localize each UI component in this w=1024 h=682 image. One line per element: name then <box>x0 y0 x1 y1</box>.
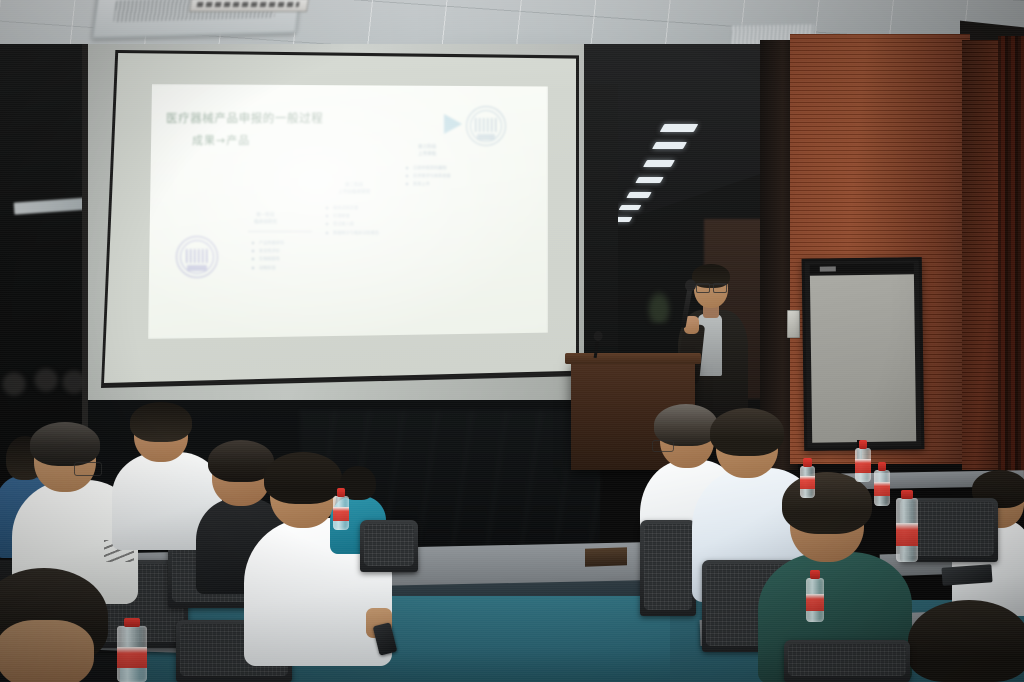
curtain <box>998 36 1024 476</box>
tablet-device[interactable] <box>941 564 992 585</box>
corridor-light-6 <box>619 205 642 210</box>
list-item: 注册申报资料编制 <box>406 164 451 172</box>
attendee-hair <box>908 600 1024 682</box>
chair-mesh-back <box>644 524 692 610</box>
slide-stage-3-label: 第三阶段 上市审批 <box>418 144 436 158</box>
mesh-office-chair[interactable] <box>360 520 418 572</box>
water-bottle[interactable] <box>117 618 147 682</box>
list-item: 受试者入组 <box>326 220 379 228</box>
slide-stage-1-underline <box>248 231 312 232</box>
slide-stage-3-line2: 上市审批 <box>418 152 436 157</box>
bottle-cap <box>901 490 913 499</box>
attendee-foreground-head <box>0 568 110 682</box>
slide-stage-1-line1: 第一阶段 <box>256 213 274 218</box>
eyeglasses-icon <box>652 440 674 452</box>
chair-mesh-back <box>364 524 414 566</box>
corridor-light-3 <box>643 160 675 167</box>
slide-subtitle: 成果→产品 <box>192 132 250 148</box>
whiteboard-top-rail <box>810 263 914 273</box>
slide-title: 医疗器械产品申报的一般过程 <box>166 110 323 126</box>
corridor-light-2 <box>652 142 687 149</box>
whiteboard-clip <box>820 266 836 271</box>
corridor-light-5 <box>626 192 651 198</box>
slide-stage-1-label: 第一阶段 临床前研究 <box>254 212 277 226</box>
conference-room-photo: 医疗器械产品申报的一般过程 成果→产品 第一阶段 临床前研究 产品性能研究 安全… <box>0 0 1024 682</box>
bottle-label <box>874 482 890 496</box>
list-item: 动物实验 <box>252 264 284 272</box>
bottle-label <box>800 476 815 489</box>
eyeglass-lens-left <box>696 283 710 293</box>
arrow-right-icon <box>444 114 462 134</box>
stage-step <box>585 547 627 566</box>
cfda-seal-icon <box>176 236 218 278</box>
attendee-hair <box>710 408 784 456</box>
light-switch-plate[interactable] <box>787 310 800 338</box>
attendee-hair <box>130 402 192 442</box>
eyeglass-lens-right <box>713 283 727 293</box>
chair-mesh-back <box>788 644 906 676</box>
slide-bullets-stage-2: 临床试验方案 伦理审查 受试者入组 数据统计与临床试验报告 <box>326 204 379 237</box>
seal-emblem-bars <box>475 118 496 132</box>
seal-plaque <box>187 265 206 271</box>
list-item: 安全性评价 <box>252 247 284 255</box>
slide-stage-3-line1: 第三阶段 <box>418 145 436 150</box>
corridor-light-4 <box>635 177 663 183</box>
bottle-cap <box>859 440 868 449</box>
bottle-label <box>896 523 918 546</box>
slide-stage-2-label: 第二阶段 上市前临床研究 <box>338 182 370 196</box>
water-bottle[interactable] <box>874 462 890 506</box>
corridor-light-1 <box>660 124 699 132</box>
bottle-label <box>333 507 349 520</box>
slide-stage-2-line2: 上市前临床研究 <box>338 190 370 195</box>
list-item: 临床试验方案 <box>326 204 379 212</box>
mesh-office-chair[interactable] <box>640 520 696 616</box>
list-item: 生物相容性 <box>252 255 284 263</box>
potted-plant <box>646 289 672 323</box>
list-item: 数据统计与临床试验报告 <box>326 229 379 237</box>
water-bottle[interactable] <box>333 488 349 530</box>
seal-plaque <box>477 134 495 140</box>
bottle-label <box>855 459 871 472</box>
list-item: 伦理审查 <box>326 212 379 220</box>
eyeglasses-icon <box>74 462 102 476</box>
whiteboard-surface <box>810 274 916 442</box>
slide-stage-2-line1: 第二阶段 <box>345 183 363 188</box>
ac-unit-label <box>189 0 309 12</box>
projected-slide: 医疗器械产品申报的一般过程 成果→产品 第一阶段 临床前研究 产品性能研究 安全… <box>148 84 548 339</box>
water-bottle[interactable] <box>800 458 815 498</box>
attendee-bottom-right-head <box>908 600 1024 682</box>
bottle-label <box>806 594 824 611</box>
attendee-head <box>0 620 94 682</box>
slide-bullets-stage-1: 产品性能研究 安全性评价 生物相容性 动物实验 <box>252 239 284 272</box>
attendee-hair <box>30 422 100 466</box>
slide-stage-1-line2: 临床前研究 <box>254 220 277 225</box>
mesh-office-chair[interactable] <box>784 640 910 682</box>
bottle-cap <box>878 462 887 471</box>
slide-bullets-stage-3: 注册申报资料编制 技术审评与体系核查 批准上市 <box>406 164 451 189</box>
bottle-cap <box>810 570 820 579</box>
list-item: 产品性能研究 <box>252 239 284 247</box>
water-bottle[interactable] <box>896 490 918 562</box>
list-item: 技术审评与体系核查 <box>406 172 451 180</box>
lectern-top-surface <box>565 353 701 364</box>
water-bottle[interactable] <box>806 570 824 622</box>
bottle-cap <box>337 488 346 497</box>
water-bottle[interactable] <box>855 440 871 482</box>
center-aisle-carpet <box>390 596 670 682</box>
seal-emblem-bars <box>186 249 208 263</box>
bottle-cap <box>124 618 141 627</box>
list-item: 批准上市 <box>406 180 451 188</box>
bottle-label <box>117 647 147 667</box>
bottle-cap <box>803 458 811 467</box>
fda-seal-icon <box>466 106 506 146</box>
